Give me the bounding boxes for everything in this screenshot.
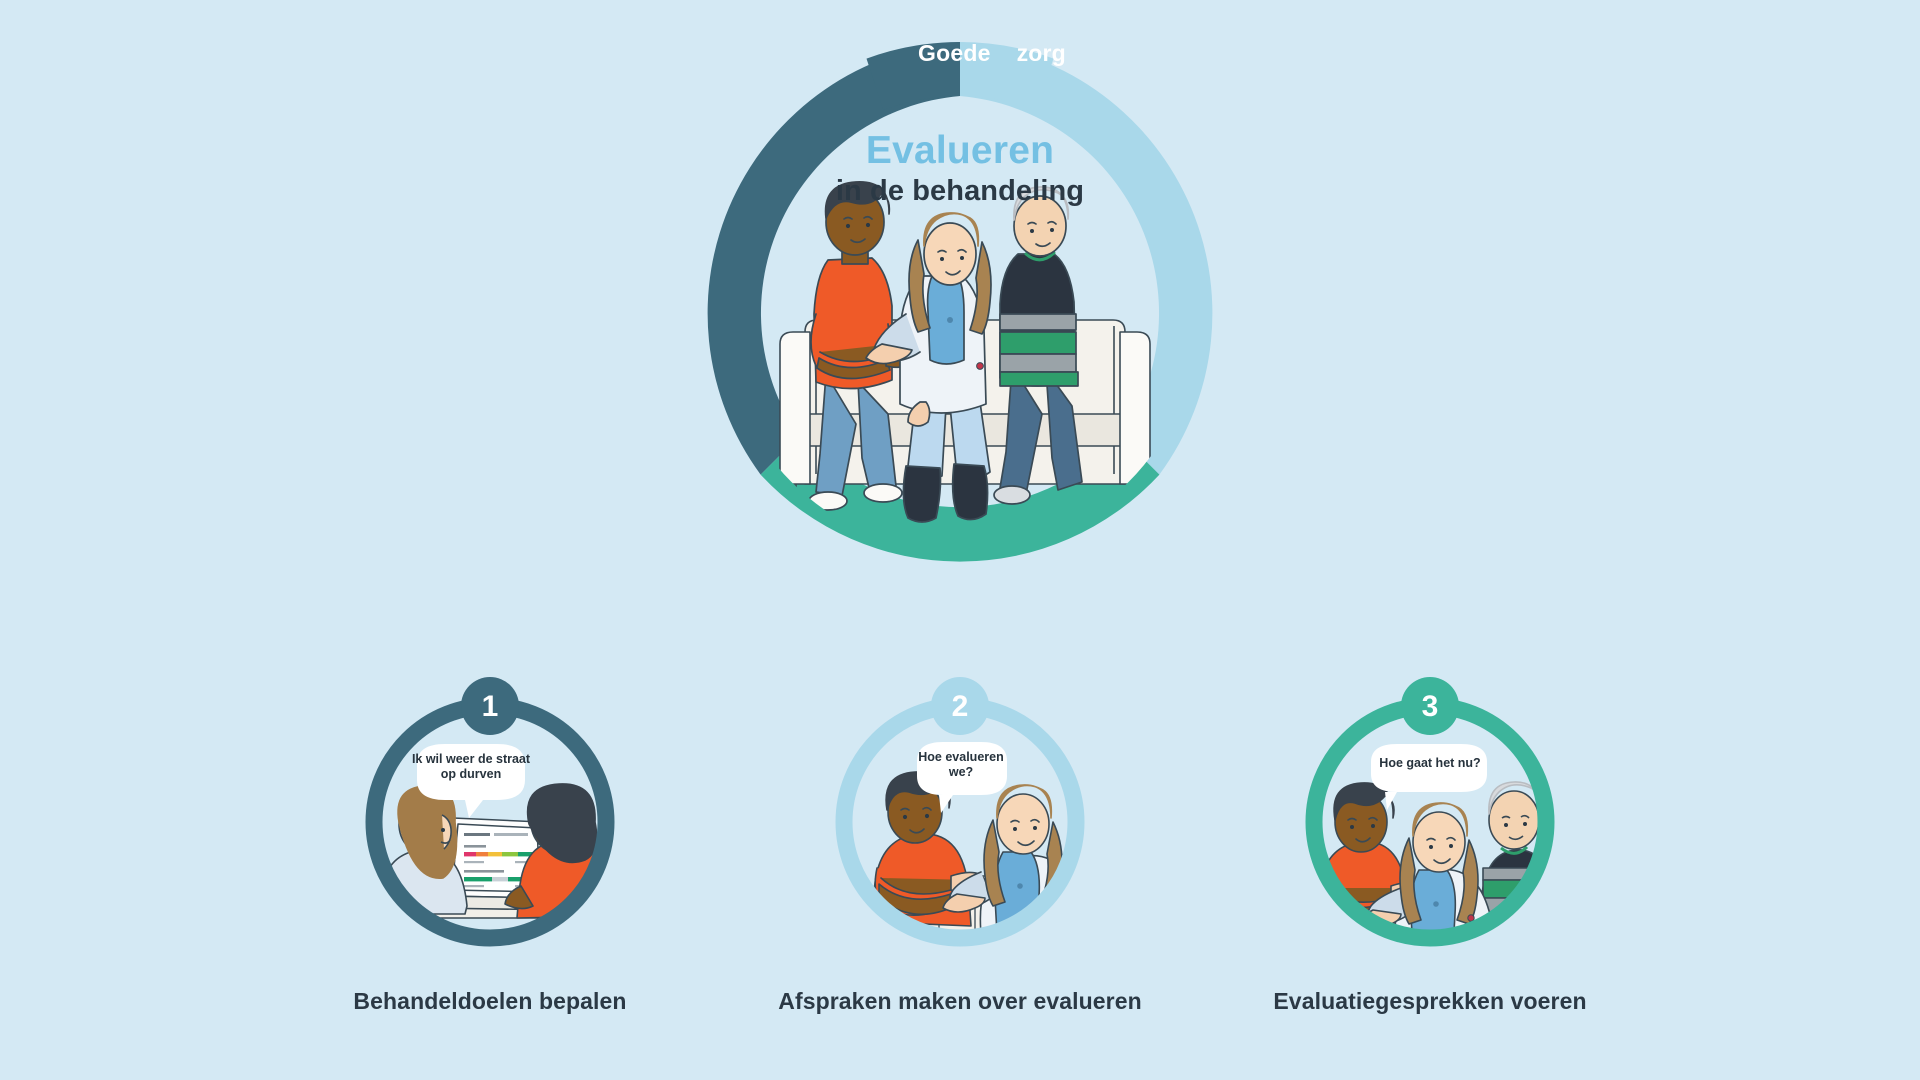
steps-row: 1 Ik wil weer de straat op durven Behand… [0, 672, 1920, 1015]
hero-cycle-diagram: Evalueren in de behandeling Goede zorg [620, 14, 1300, 634]
step-1-caption: Behandeldoelen bepalen [353, 988, 626, 1015]
step-1-badge-circle [461, 677, 519, 735]
step-2-badge-circle [931, 677, 989, 735]
infographic-canvas: Evalueren in de behandeling Goede zorg [0, 0, 1920, 1080]
step-3-ring-svg [1285, 672, 1575, 962]
step-1[interactable]: 1 Ik wil weer de straat op durven Behand… [300, 672, 680, 1015]
step-3-circle[interactable]: 3 Hoe gaat het nu? [1285, 672, 1575, 962]
step-2[interactable]: 2 Hoe evalueren we? Afspraken maken over… [770, 672, 1150, 1015]
step-1-ring-svg [345, 672, 635, 962]
step-1-circle[interactable]: 1 Ik wil weer de straat op durven [345, 672, 635, 962]
step-3-caption: Evaluatiegesprekken voeren [1273, 988, 1586, 1015]
step-3-badge-circle [1401, 677, 1459, 735]
step-2-circle[interactable]: 2 Hoe evalueren we? [815, 672, 1105, 962]
hero-ribbon-light [960, 42, 1054, 110]
hero-illustration [780, 182, 1150, 522]
hero-ring-svg [620, 14, 1300, 634]
step-2-caption: Afspraken maken over evalueren [778, 988, 1142, 1015]
hero-ribbon-dark [867, 42, 961, 110]
step-3[interactable]: 3 Hoe gaat het nu? Evaluatiegesprekken v… [1240, 672, 1620, 1015]
step-2-ring-svg [815, 672, 1105, 962]
